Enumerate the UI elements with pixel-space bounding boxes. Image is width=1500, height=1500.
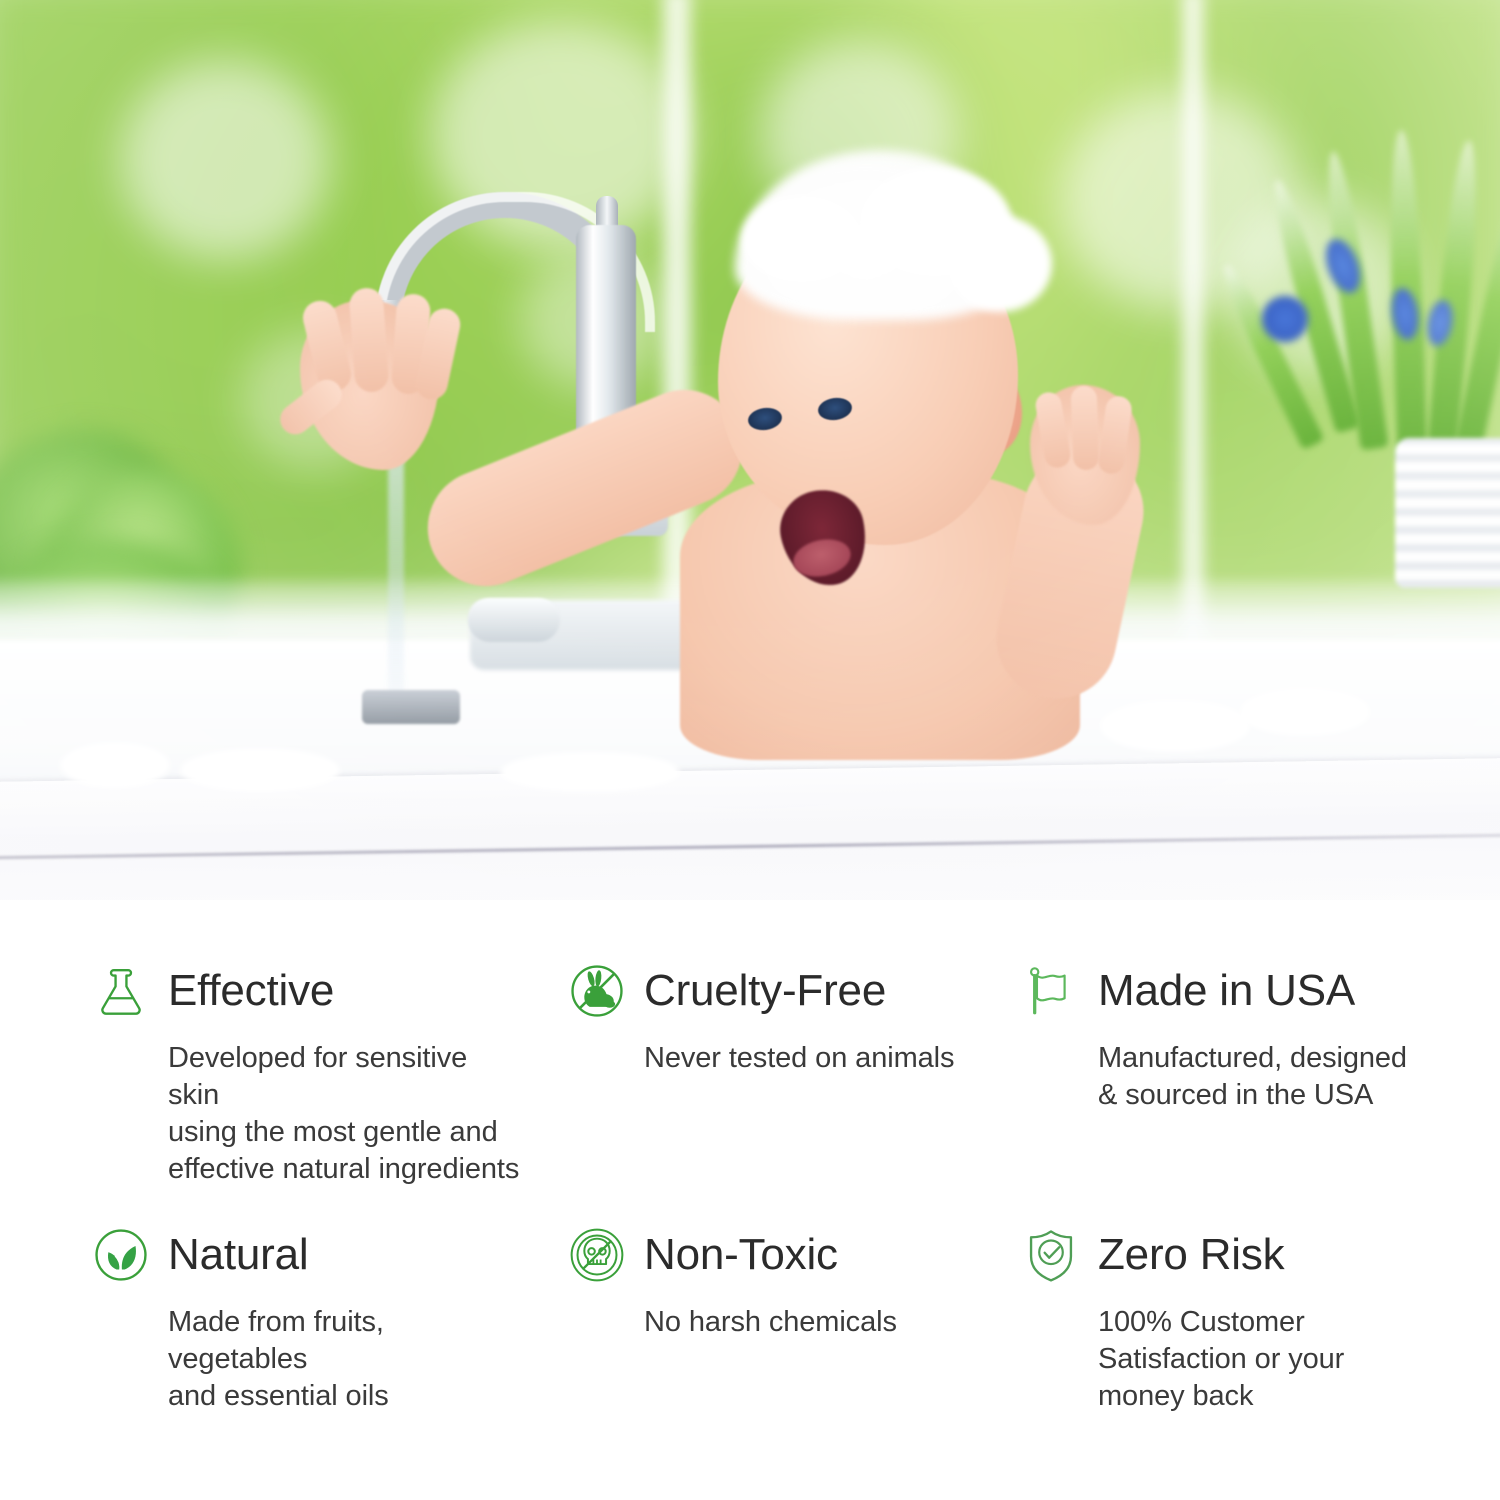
- flask-icon: [92, 962, 150, 1020]
- feature-header: Cruelty-Free: [568, 958, 998, 1024]
- feature-description: Developed for sensitive skin using the m…: [168, 1040, 522, 1188]
- feature-description: Manufactured, designed & sourced in the …: [1098, 1040, 1452, 1114]
- feature-title: Natural: [168, 1233, 308, 1277]
- baby-finger: [1071, 386, 1100, 471]
- faucet-handle: [468, 598, 560, 642]
- feature-title: Zero Risk: [1098, 1233, 1284, 1277]
- feature-title: Made in USA: [1098, 969, 1355, 1013]
- hero-photo: [0, 0, 1500, 900]
- feature-effective: Effective Developed for sensitive skin u…: [92, 958, 522, 1188]
- feature-header: Effective: [92, 958, 522, 1024]
- flag-icon: [1022, 962, 1080, 1020]
- feature-title: Non-Toxic: [644, 1233, 838, 1277]
- feature-zero-risk: Zero Risk 100% Customer Satisfaction or …: [1022, 1222, 1452, 1415]
- feature-title: Effective: [168, 969, 334, 1013]
- soap-suds: [1240, 688, 1370, 736]
- soap-suds: [500, 752, 680, 792]
- feature-description: Never tested on animals: [644, 1040, 998, 1077]
- feature-cruelty-free: Cruelty-Free Never tested on animals: [568, 958, 998, 1077]
- soap-suds: [60, 742, 170, 788]
- product-feature-page: Effective Developed for sensitive skin u…: [0, 0, 1500, 1500]
- feature-description: No harsh chemicals: [644, 1304, 998, 1341]
- blue-flower: [1262, 296, 1308, 342]
- feature-non-toxic: Non-Toxic No harsh chemicals: [568, 1222, 998, 1341]
- soap-suds: [948, 216, 1052, 312]
- woven-basket-pot: [1395, 438, 1500, 588]
- soap-suds: [180, 748, 340, 792]
- soap-suds: [1100, 700, 1250, 752]
- feature-natural: Natural Made from fruits, vegetables and…: [92, 1222, 522, 1415]
- feature-header: Non-Toxic: [568, 1222, 998, 1288]
- feature-title: Cruelty-Free: [644, 969, 886, 1013]
- sink-drain: [362, 690, 460, 724]
- feature-description: Made from fruits, vegetables and essenti…: [168, 1304, 522, 1415]
- no-animal-testing-icon: [568, 962, 626, 1020]
- shield-check-icon: [1022, 1226, 1080, 1284]
- baby-finger: [348, 287, 389, 393]
- feature-header: Natural: [92, 1222, 522, 1288]
- bokeh-highlight: [120, 60, 330, 260]
- no-skull-icon: [568, 1226, 626, 1284]
- leaves-icon: [92, 1226, 150, 1284]
- features-panel: Effective Developed for sensitive skin u…: [0, 900, 1500, 1500]
- feature-description: 100% Customer Satisfaction or your money…: [1098, 1304, 1452, 1415]
- soap-suds: [742, 196, 862, 282]
- feature-header: Zero Risk: [1022, 1222, 1452, 1288]
- feature-header: Made in USA: [1022, 958, 1452, 1024]
- feature-made-in-usa: Made in USA Manufactured, designed & sou…: [1022, 958, 1452, 1114]
